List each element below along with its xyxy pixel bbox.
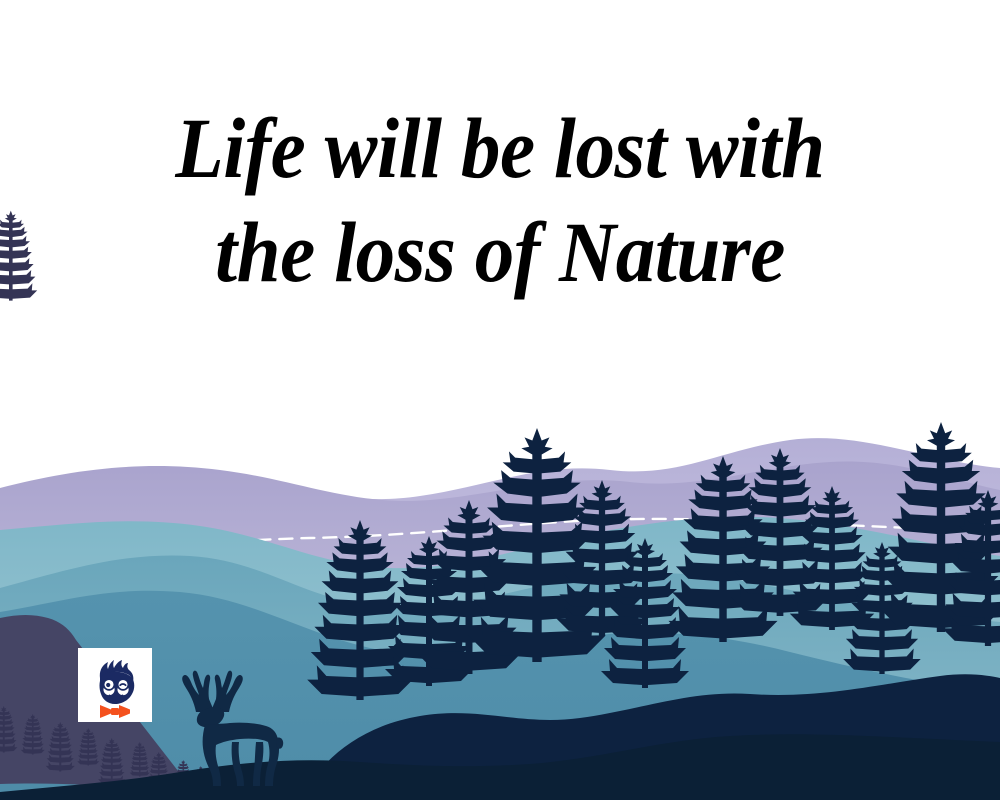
brand-logo-badge[interactable] [78,648,152,722]
logo-glasses-left-temple-icon [101,682,104,683]
logo-bowtie-knot [111,708,119,715]
logo-left-pupil [106,683,110,687]
poster-canvas: Life will be lost with the loss of Natur… [0,0,1000,800]
boy-with-glasses-and-bowtie-logo [78,648,152,722]
logo-glasses-right-temple-icon [128,683,132,684]
